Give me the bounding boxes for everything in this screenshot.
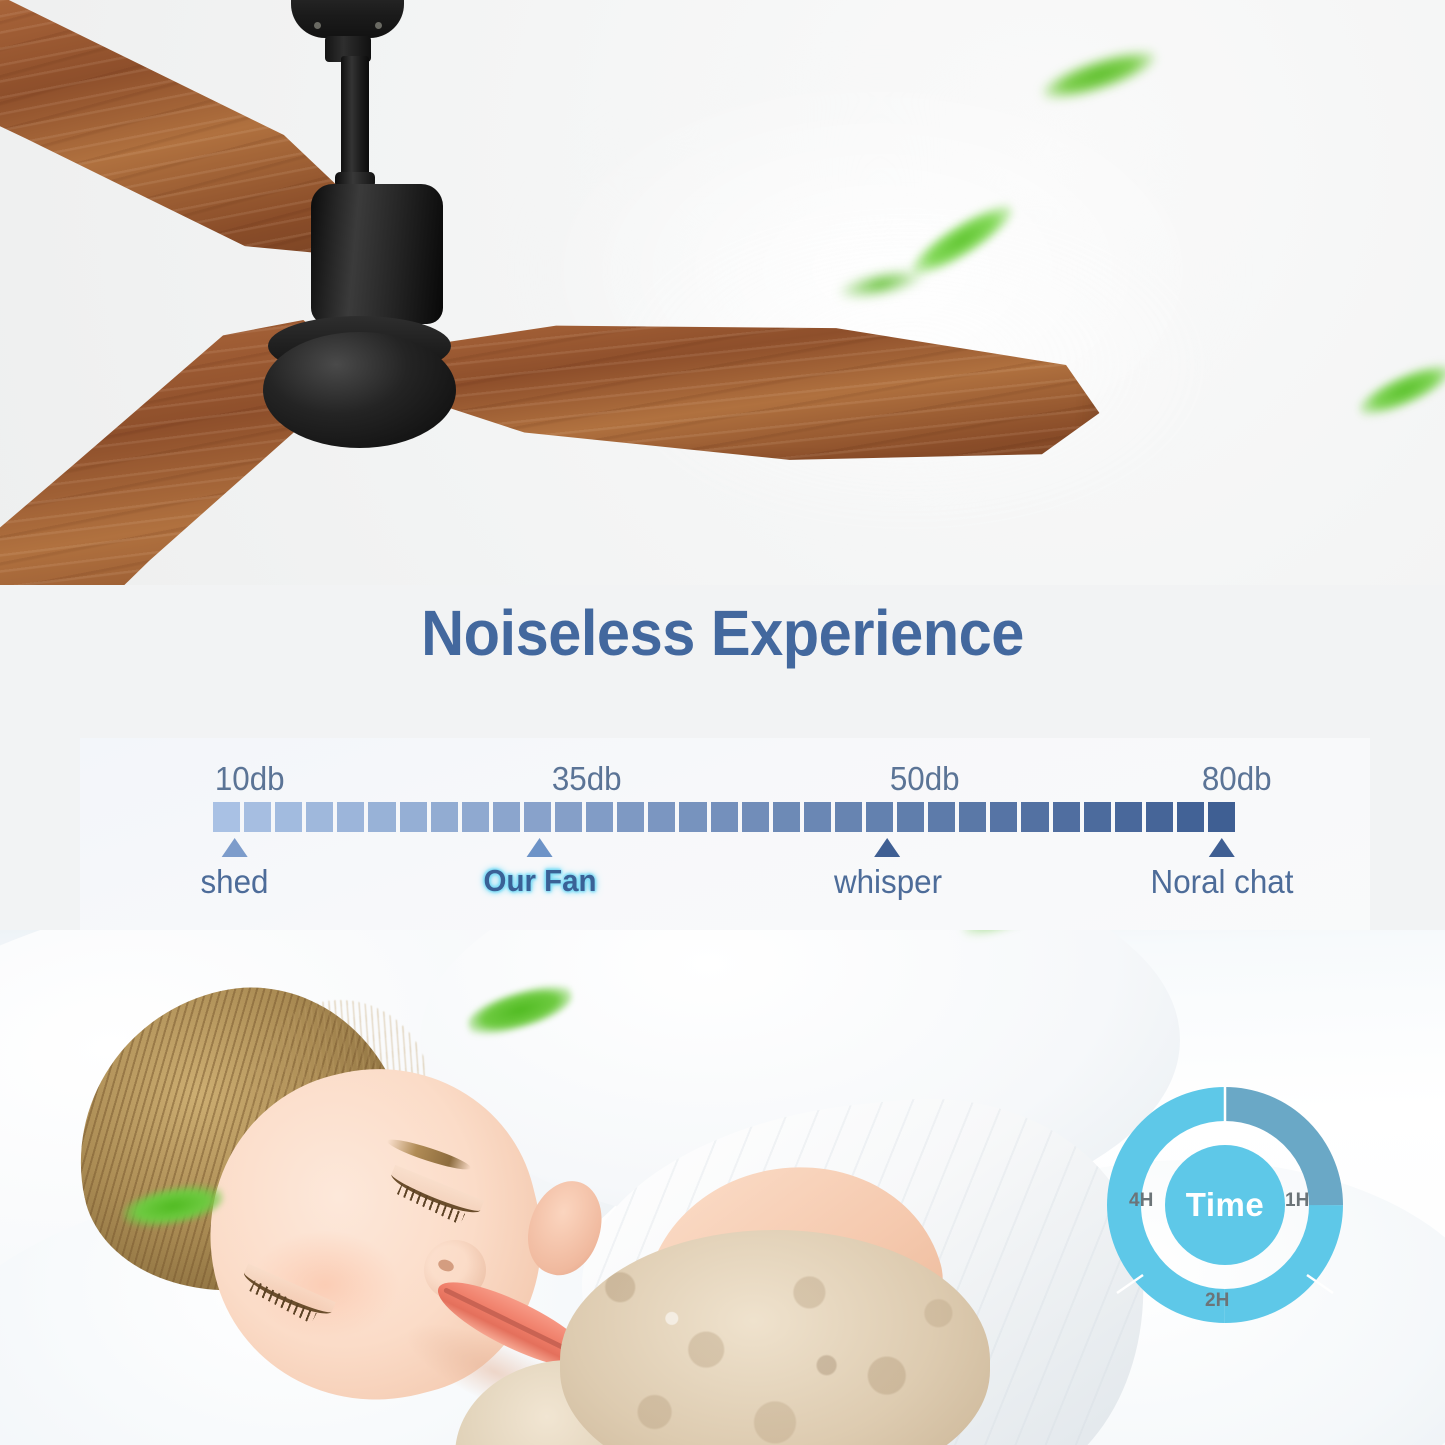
marker-label: whisper bbox=[833, 863, 941, 901]
fan-motor-housing bbox=[311, 184, 443, 324]
decibel-segment bbox=[524, 802, 551, 832]
downrod bbox=[341, 56, 369, 181]
noise-marker-our-fan: Our Fan bbox=[481, 838, 600, 899]
noise-marker-whisper: whisper bbox=[831, 838, 945, 901]
decibel-segment bbox=[400, 802, 427, 832]
decibel-segment bbox=[1177, 802, 1204, 832]
decibel-segment bbox=[679, 802, 706, 832]
decibel-segment bbox=[959, 802, 986, 832]
product-marketing-banner: Noiseless Experience 10db35db50db80dbshe… bbox=[0, 0, 1445, 1445]
leaf-icon bbox=[1353, 356, 1445, 424]
decibel-segment bbox=[275, 802, 302, 832]
decibel-segment bbox=[1021, 802, 1048, 832]
leaf-icon bbox=[1038, 43, 1159, 108]
decibel-segment bbox=[1053, 802, 1080, 832]
decibel-segment bbox=[1146, 802, 1173, 832]
page-title: Noiseless Experience bbox=[51, 596, 1395, 670]
decibel-bar bbox=[213, 802, 1235, 832]
noise-marker-shed: shed bbox=[199, 838, 271, 901]
ceiling-fan-photo bbox=[0, 0, 1445, 585]
decibel-segment bbox=[773, 802, 800, 832]
noise-marker-noral-chat: Noral chat bbox=[1147, 838, 1297, 901]
decibel-tick-label: 10db bbox=[215, 760, 285, 798]
decibel-tick-label: 50db bbox=[889, 760, 959, 798]
noise-scale-panel: 10db35db50db80dbshedOur FanwhisperNoral … bbox=[80, 738, 1370, 930]
decibel-segment bbox=[1084, 802, 1111, 832]
marker-triangle-icon bbox=[527, 838, 553, 857]
marker-label: Noral chat bbox=[1150, 863, 1293, 901]
decibel-segment bbox=[493, 802, 520, 832]
decibel-segment bbox=[586, 802, 613, 832]
decibel-segment bbox=[990, 802, 1017, 832]
marker-triangle-icon bbox=[875, 838, 901, 857]
timer-label-2h: 2H bbox=[1205, 1290, 1229, 1312]
timer-center-label: Time bbox=[1186, 1186, 1264, 1224]
decibel-segment bbox=[1208, 802, 1235, 832]
decibel-segment bbox=[431, 802, 458, 832]
decibel-segment bbox=[648, 802, 675, 832]
timer-label-1h: 1H bbox=[1285, 1190, 1309, 1212]
decibel-segment bbox=[897, 802, 924, 832]
decibel-segment bbox=[306, 802, 333, 832]
timer-label-4h: 4H bbox=[1129, 1190, 1153, 1212]
decibel-tick-label: 80db bbox=[1201, 760, 1271, 798]
decibel-segment bbox=[213, 802, 240, 832]
decibel-segment bbox=[337, 802, 364, 832]
fan-hub-cap bbox=[263, 332, 456, 448]
marker-triangle-icon bbox=[222, 838, 248, 857]
decibel-segment bbox=[804, 802, 831, 832]
decibel-segment bbox=[555, 802, 582, 832]
noise-scale: 10db35db50db80dbshedOur FanwhisperNoral … bbox=[213, 738, 1273, 930]
timer-center: Time bbox=[1165, 1145, 1285, 1265]
decibel-segment bbox=[866, 802, 893, 832]
marker-label: shed bbox=[201, 863, 269, 901]
decibel-segment bbox=[928, 802, 955, 832]
marker-label: Our Fan bbox=[484, 863, 597, 899]
decibel-segment bbox=[462, 802, 489, 832]
decibel-segment bbox=[244, 802, 271, 832]
decibel-segment bbox=[742, 802, 769, 832]
decibel-segment bbox=[617, 802, 644, 832]
decibel-tick-label: 35db bbox=[552, 760, 622, 798]
decibel-segment bbox=[835, 802, 862, 832]
decibel-segment bbox=[1115, 802, 1142, 832]
marker-triangle-icon bbox=[1209, 838, 1235, 857]
timer-donut-chart: 1H 2H 4H Time bbox=[1107, 1087, 1343, 1323]
ceiling-mount-canopy bbox=[291, 0, 404, 38]
decibel-segment bbox=[368, 802, 395, 832]
decibel-segment bbox=[711, 802, 738, 832]
